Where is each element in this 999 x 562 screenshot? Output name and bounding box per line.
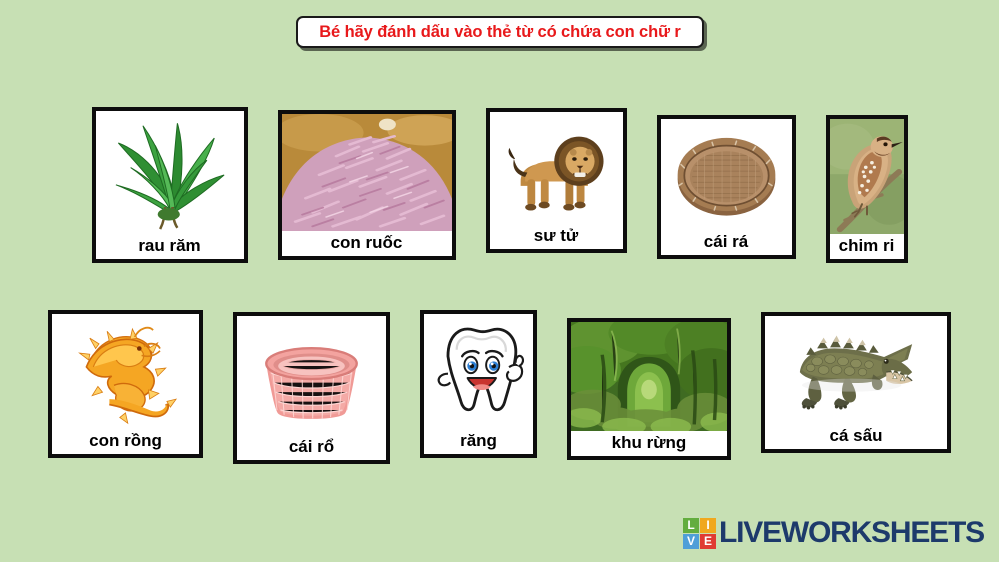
word-card-label: chim ri <box>830 234 904 259</box>
word-card-cai-ra[interactable]: cái rá <box>657 115 796 259</box>
word-card-label: răng <box>424 429 533 454</box>
logo-tile-i: I <box>700 518 716 533</box>
forest-icon <box>571 322 727 431</box>
word-card-row-2: con rồng <box>0 310 999 464</box>
bamboo-sieve-icon <box>661 119 792 230</box>
word-card-label: rau răm <box>96 234 244 259</box>
logo-wordmark: LIVEWORKSHEETS <box>719 518 984 548</box>
word-card-label: cái rá <box>661 230 792 255</box>
word-card-rau-ram[interactable]: rau răm <box>92 107 248 263</box>
logo-tiles: L I V E <box>683 518 716 549</box>
page-title: Bé hãy đánh dấu vào thẻ từ có chứa con c… <box>319 23 681 42</box>
sparrow-bird-icon <box>830 119 904 234</box>
word-card-chim-ri[interactable]: chim ri <box>826 115 908 263</box>
logo-tile-e: E <box>700 534 716 549</box>
cartoon-tooth-icon <box>424 314 533 429</box>
word-card-label: cái rổ <box>237 435 386 460</box>
logo-tile-l: L <box>683 518 699 533</box>
word-card-label: con rồng <box>52 429 199 454</box>
pink-basket-icon <box>237 316 386 435</box>
word-card-con-rong[interactable]: con rồng <box>48 310 203 458</box>
word-card-con-ruoc[interactable]: con ruốc <box>278 110 456 260</box>
shredded-shrimp-icon <box>282 114 452 231</box>
herb-leaves-icon <box>96 111 244 234</box>
lion-icon <box>490 112 623 224</box>
word-card-row-1: rau răm <box>0 107 999 263</box>
word-card-rang[interactable]: răng <box>420 310 537 458</box>
word-card-label: khu rừng <box>571 431 727 456</box>
word-card-label: cá sấu <box>765 424 947 449</box>
word-card-cai-ro[interactable]: cái rổ <box>233 312 390 464</box>
word-card-su-tu[interactable]: sư tử <box>486 108 627 253</box>
word-card-label: con ruốc <box>282 231 452 256</box>
liveworksheets-logo[interactable]: L I V E LIVEWORKSHEETS <box>683 516 984 550</box>
instruction-banner: Bé hãy đánh dấu vào thẻ từ có chứa con c… <box>296 16 704 48</box>
golden-dragon-icon <box>52 314 199 429</box>
word-card-ca-sau[interactable]: cá sấu <box>761 312 951 453</box>
word-card-khu-rung[interactable]: khu rừng <box>567 318 731 460</box>
word-card-label: sư tử <box>490 224 623 249</box>
crocodile-icon <box>765 316 947 424</box>
logo-tile-v: V <box>683 534 699 549</box>
